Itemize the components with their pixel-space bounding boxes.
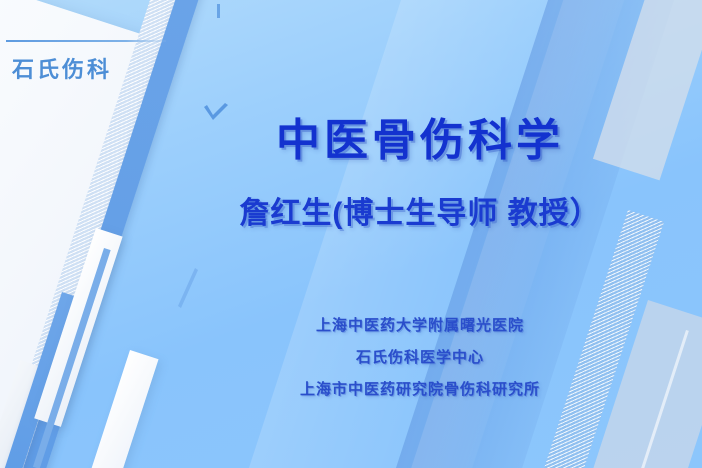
page-title: 中医骨伤科学 [190, 104, 650, 168]
title-content: 中医骨伤科学 詹红生(博士生导师 教授） 上海中医药大学附属曙光医院 石氏伤科医… [190, 0, 650, 468]
affiliation-line-3: 上海市中医药研究院骨伤科研究所 [190, 378, 650, 399]
presentation-title-slide: 石氏伤科 中医骨伤科学 詹红生(博士生导师 教授） 上海中医药大学附属曙光医院 … [0, 0, 702, 468]
presenter-name: 詹红生(博士生导师 教授） [190, 188, 650, 232]
affiliation-line-2: 石氏伤科医学中心 [190, 346, 650, 367]
logo-text: 石氏伤科 [6, 52, 196, 84]
affiliation-line-1: 上海中医药大学附属曙光医院 [190, 314, 650, 335]
logo-rule-divider [6, 40, 166, 42]
decorative-white-sliver-lower [77, 350, 158, 468]
brand-logo: 石氏伤科 [6, 40, 196, 84]
